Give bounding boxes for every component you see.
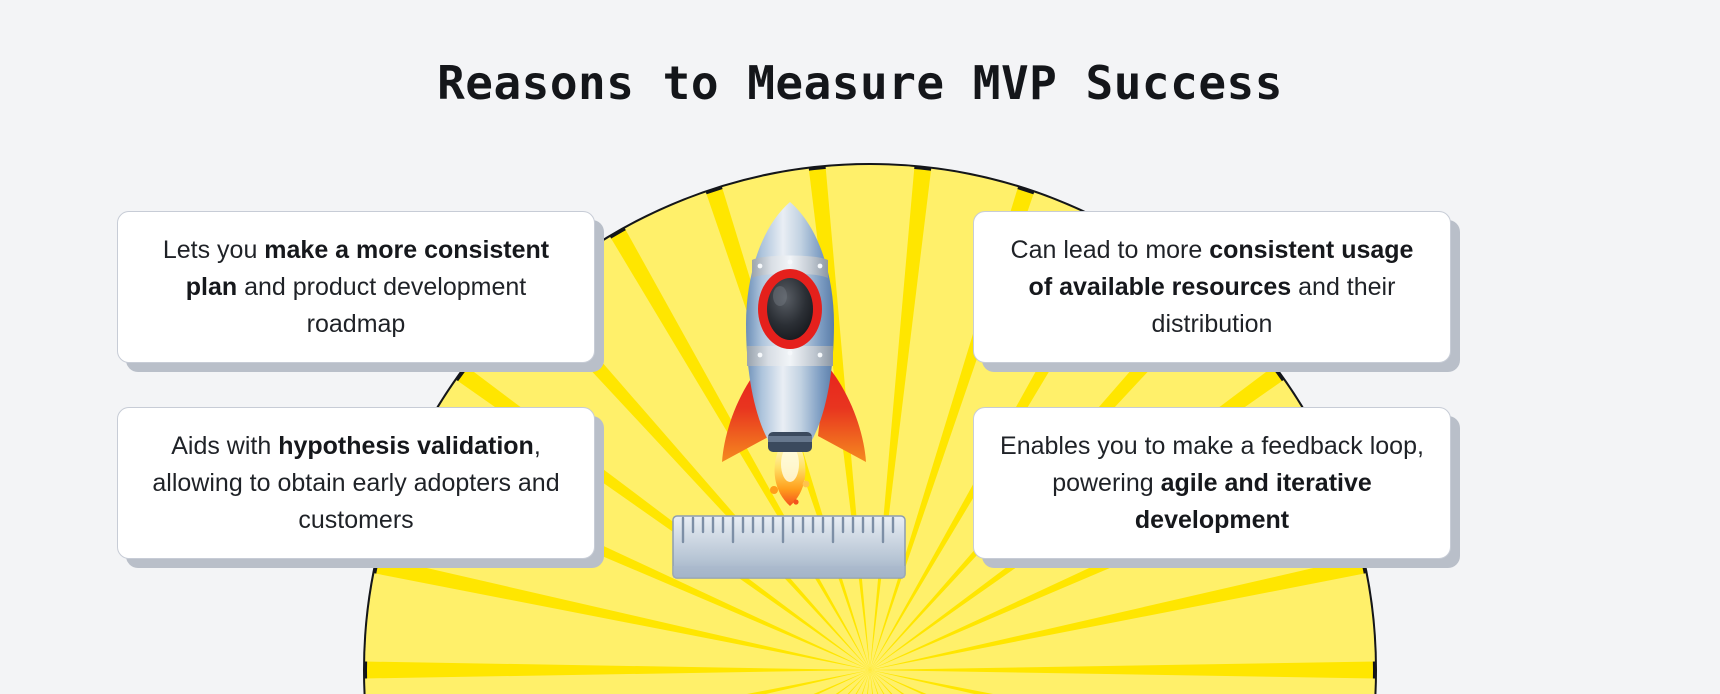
reason-card-bottom-left[interactable]: Aids with hypothesis validation, allowin…	[117, 407, 595, 559]
page-title: Reasons to Measure MVP Success	[0, 56, 1720, 110]
reason-card-bottom-left-text: Aids with hypothesis validation, allowin…	[144, 428, 568, 539]
infographic-canvas: Reasons to Measure MVP Success	[0, 0, 1720, 694]
rocket-emoji	[700, 196, 880, 506]
reason-card-top-right[interactable]: Can lead to more consistent usage of ava…	[973, 211, 1451, 363]
reason-card-top-left-text: Lets you make a more consistent plan and…	[144, 232, 568, 343]
reason-card-top-right-text: Can lead to more consistent usage of ava…	[1000, 232, 1424, 343]
reason-card-bottom-right-text: Enables you to make a feedback loop, pow…	[1000, 428, 1424, 539]
reason-card-top-left[interactable]: Lets you make a more consistent plan and…	[117, 211, 595, 363]
ruler-emoji	[671, 512, 907, 582]
reason-card-bottom-right[interactable]: Enables you to make a feedback loop, pow…	[973, 407, 1451, 559]
